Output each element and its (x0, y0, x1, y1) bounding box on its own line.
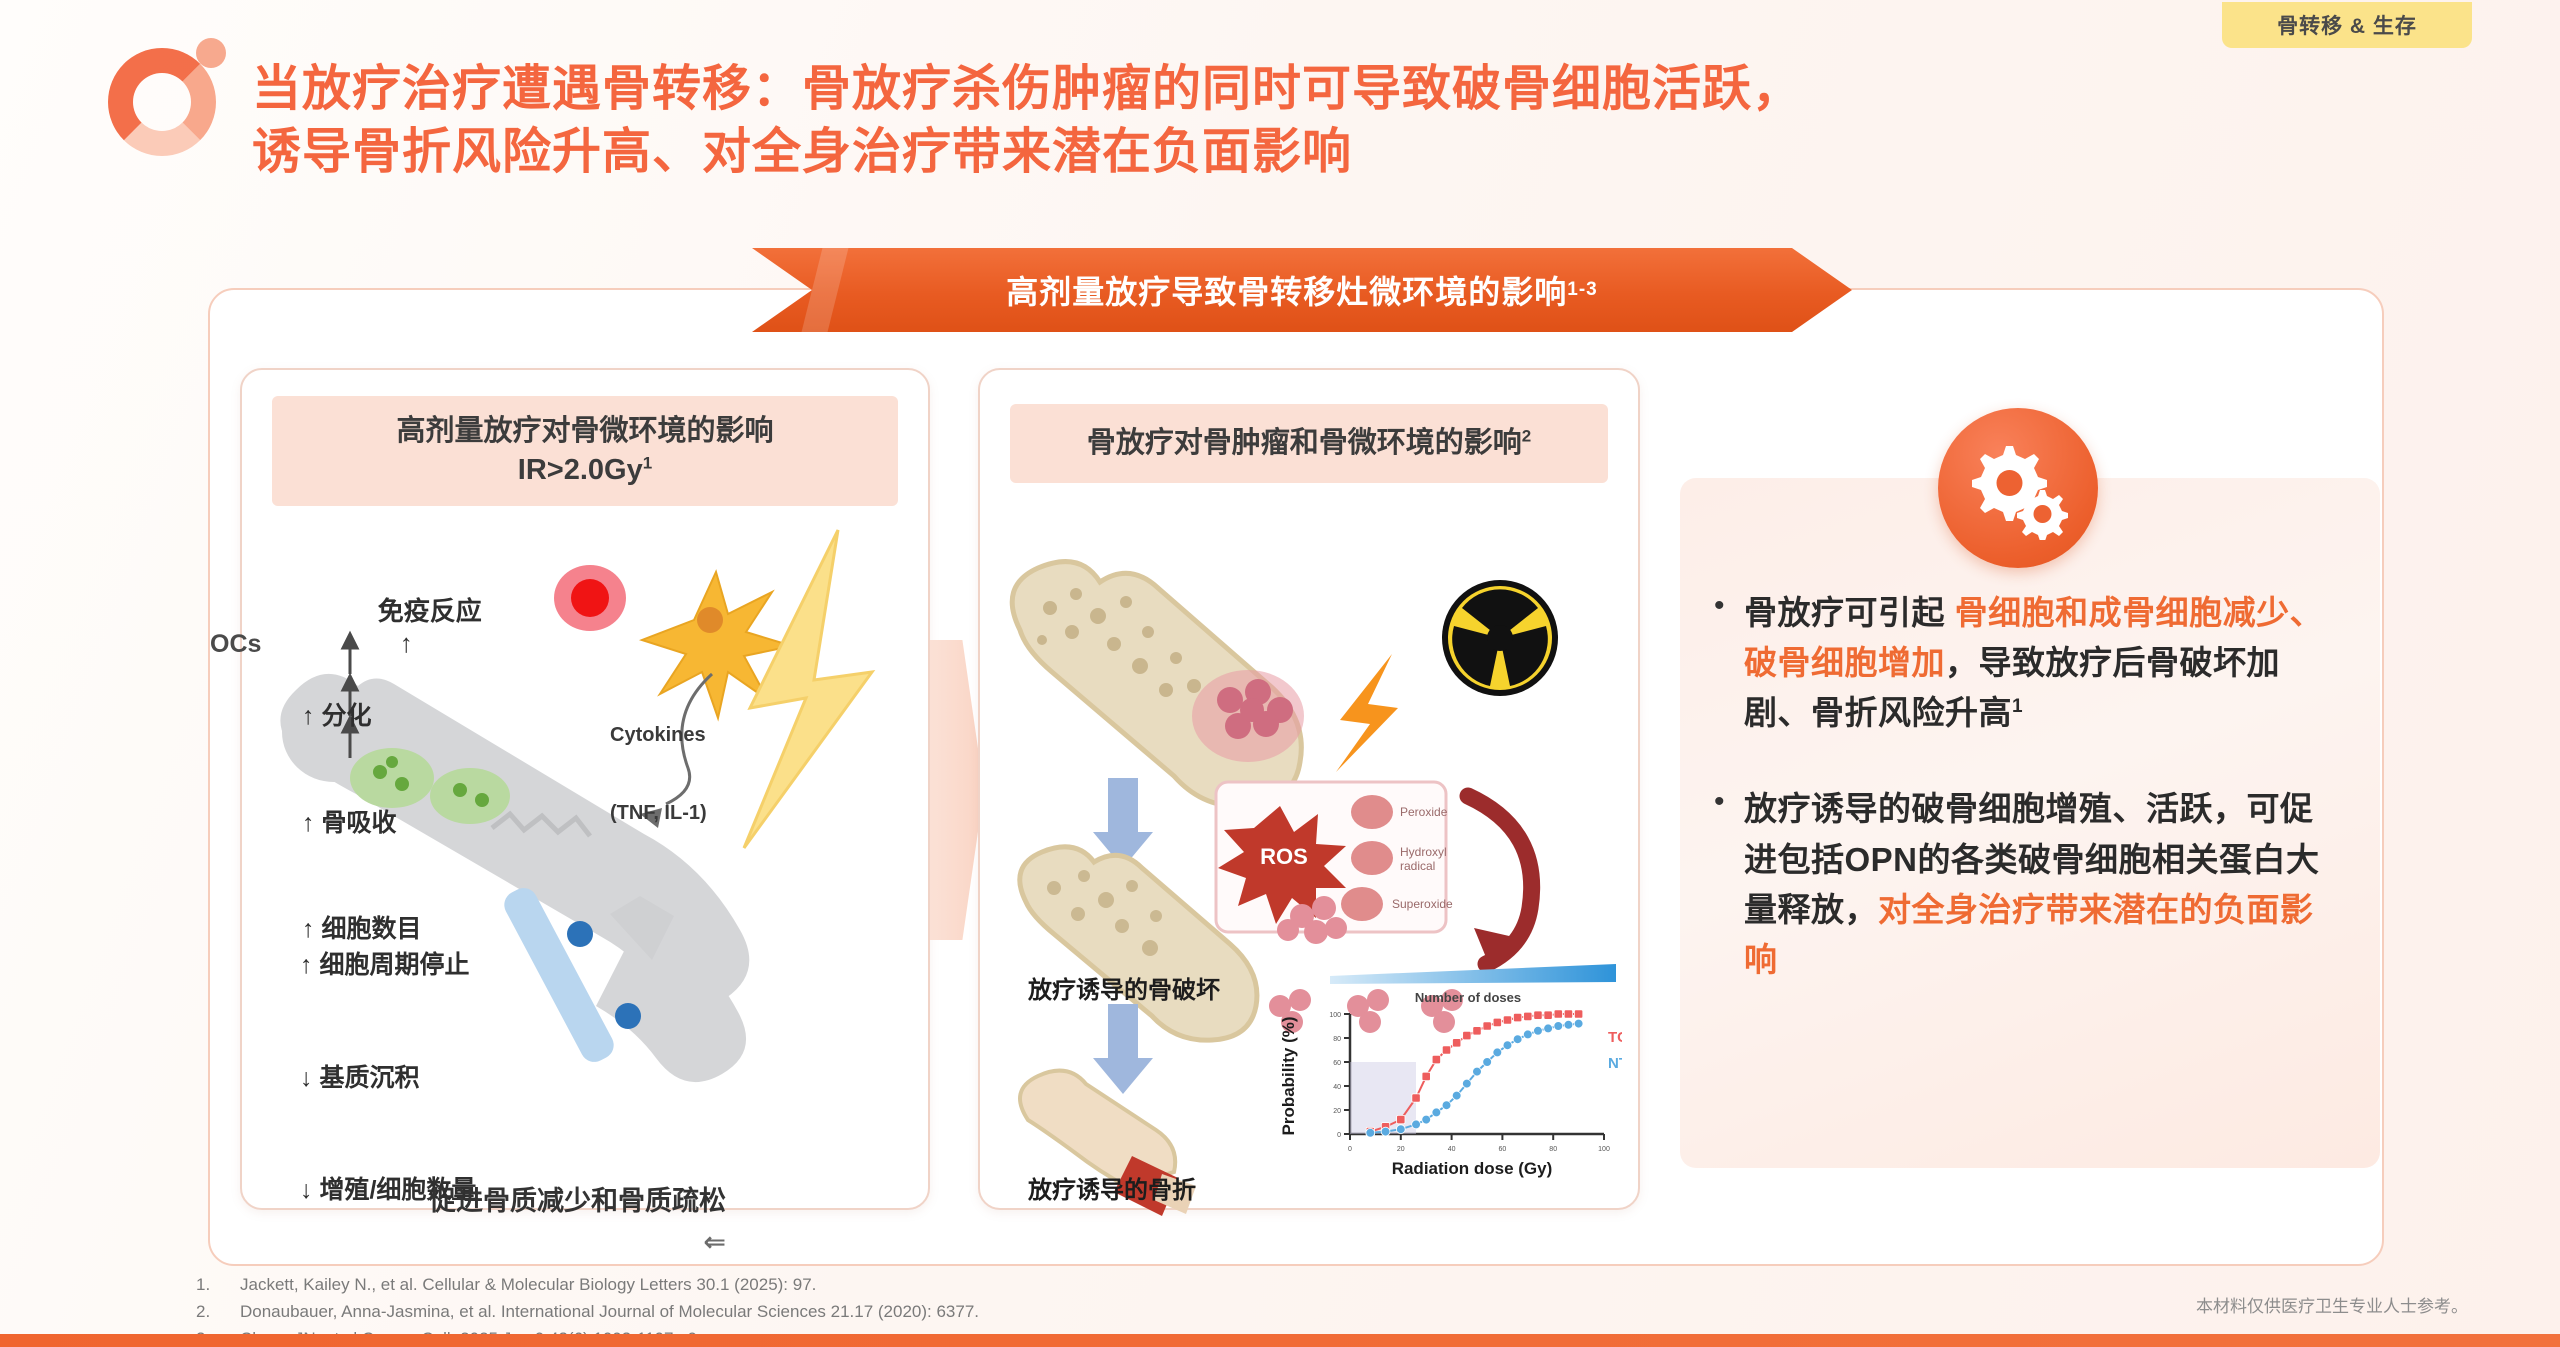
label-ocs: OCs (210, 630, 261, 659)
svg-text:20: 20 (1333, 1108, 1341, 1115)
conclusion-bullet-text-0: 骨放疗可引起 骨细胞和成骨细胞减少、破骨细胞增加，导致放疗后骨破坏加剧、骨折风险… (1744, 588, 2338, 738)
bullet-0-ref-sup: 1 (2012, 696, 2023, 717)
ros-species-0: Peroxide (1400, 805, 1448, 819)
left-diagram: 免疫反应 ↑ OCs ↑ 分化 ↑ 骨吸收 ↑ 细胞数目 Cytokines (… (242, 370, 928, 1208)
logo-ring-icon (108, 48, 216, 156)
label-cytokines: Cytokines (TNF, IL-1) (610, 670, 707, 878)
category-badge: 骨转移 & 生存 (2222, 2, 2472, 48)
legend-ntcp: NTCP (1608, 1055, 1622, 1072)
svg-text:100: 100 (1598, 1146, 1610, 1153)
logo-dot-icon (196, 38, 226, 68)
ros-species-2: Superoxide (1392, 897, 1453, 911)
cytokines-line-2: (TNF, IL-1) (610, 800, 707, 826)
svg-text:40: 40 (1333, 1084, 1341, 1091)
dose-gradient-bar (1330, 964, 1616, 984)
page-title-line-1: 当放疗治疗遭遇骨转移：骨放疗杀伤肿瘤的同时可导致破骨细胞活跃， (252, 58, 2212, 121)
section-banner-label: 高剂量放疗导致骨转移灶微环境的影响 (1006, 267, 1567, 313)
section-banner: 高剂量放疗导致骨转移灶微环境的影响1-3 (752, 248, 1852, 332)
svg-text:60: 60 (1333, 1060, 1341, 1067)
chart-xlabel: Radiation dose (Gy) (1392, 1159, 1553, 1178)
ros-species-1: Hydroxyl (1400, 845, 1447, 859)
conclusion-bullet-0: • 骨放疗可引起 骨细胞和成骨细胞减少、破骨细胞增加，导致放疗后骨破坏加剧、骨折… (1714, 588, 2338, 738)
conclusion-panel: • 骨放疗可引起 骨细胞和成骨细胞减少、破骨细胞增加，导致放疗后骨破坏加剧、骨折… (1680, 478, 2380, 1168)
gear-glyph (1966, 436, 2070, 540)
reference-item: 1. Jackett, Kailey N., et al. Cellular &… (196, 1272, 1596, 1299)
reference-number: 1. (196, 1272, 240, 1299)
middle-diagram: ROS Peroxide Hydroxyl radical Superoxide (980, 370, 1638, 1208)
radiation-hazard-icon (1442, 580, 1558, 696)
chart-ylabel: Probability (%) (1279, 1016, 1298, 1135)
reference-text: Donaubauer, Anna-Jasmina, et al. Interna… (240, 1299, 979, 1326)
svg-text:20: 20 (1397, 1146, 1405, 1153)
bullet-0-seg-0: 骨放疗可引起 (1744, 594, 1955, 631)
reference-item: 2. Donaubauer, Anna-Jasmina, et al. Inte… (196, 1299, 1596, 1326)
immune-cell-icon (554, 565, 626, 631)
cytokines-line-1: Cytokines (610, 722, 707, 748)
svg-text:60: 60 (1499, 1146, 1507, 1153)
svg-text:100: 100 (1329, 1012, 1341, 1019)
footer-accent-bar (0, 1334, 2560, 1347)
conclusion-bullet-1: • 放疗诱导的破骨细胞增殖、活跃，可促进包括OPN的各类破骨细胞相关蛋白大量释放… (1714, 784, 2338, 985)
svg-text:0: 0 (1348, 1146, 1352, 1153)
label-radiation-fracture: 放疗诱导的骨折 (1028, 1170, 1196, 1205)
svg-text:0: 0 (1337, 1132, 1341, 1139)
legend-tcp: TCP (1608, 1029, 1622, 1046)
ros-label: ROS (1260, 844, 1308, 869)
svg-text:40: 40 (1448, 1146, 1456, 1153)
tcp-ntcp-chart: Number of doses 020406080100020406080100… (1272, 958, 1622, 1188)
disclaimer-text: 本材料仅供医疗卫生专业人士参考。 (2196, 1292, 2468, 1317)
osteoblast-item-0: ↑ 细胞周期停止 (300, 947, 476, 985)
ocs-item-0: ↑ 分化 (302, 699, 421, 735)
gears-icon (1938, 408, 2098, 568)
reference-number: 2. (196, 1299, 240, 1326)
label-radiation-bone-destruction: 放疗诱导的骨破坏 (1028, 970, 1220, 1005)
reference-text: Jackett, Kailey N., et al. Cellular & Mo… (240, 1272, 816, 1299)
section-banner-superscript: 1-3 (1567, 279, 1597, 301)
chart-title: Number of doses (1415, 990, 1521, 1005)
page-title: 当放疗治疗遭遇骨转移：骨放疗杀伤肿瘤的同时可导致破骨细胞活跃， 诱导骨折风险升高… (252, 58, 2212, 183)
down-arrow-2 (1093, 1004, 1153, 1094)
panel-left: 高剂量放疗对骨微环境的影响 IR>2.0Gy1 (240, 368, 930, 1210)
radiation-bolt-icon (744, 530, 872, 848)
category-badge-label: 骨转移 & 生存 (2277, 10, 2417, 40)
outcome-arrow-0: ⇐ (703, 1227, 726, 1257)
slide-root: 骨转移 & 生存 当放疗治疗遭遇骨转移：骨放疗杀伤肿瘤的同时可导致破骨细胞活跃，… (0, 0, 2560, 1347)
bullet-marker-0: • (1714, 588, 1744, 738)
svg-text:80: 80 (1333, 1036, 1341, 1043)
svg-text:radical: radical (1400, 859, 1435, 873)
bullet-marker-1: • (1714, 784, 1744, 985)
panel-middle: 骨放疗对骨肿瘤和骨微环境的影响2 (978, 368, 1640, 1210)
page-title-line-2: 诱导骨折风险升高、对全身治疗带来潜在负面影响 (252, 121, 2212, 184)
radiation-beam-icon (1336, 654, 1398, 772)
svg-text:80: 80 (1549, 1146, 1557, 1153)
conclusion-bullet-text-1: 放疗诱导的破骨细胞增殖、活跃，可促进包括OPN的各类破骨细胞相关蛋白大量释放，对… (1744, 784, 2338, 985)
ocs-item-1: ↑ 骨吸收 (302, 806, 421, 842)
bone-with-tumor-icon (1012, 562, 1304, 807)
